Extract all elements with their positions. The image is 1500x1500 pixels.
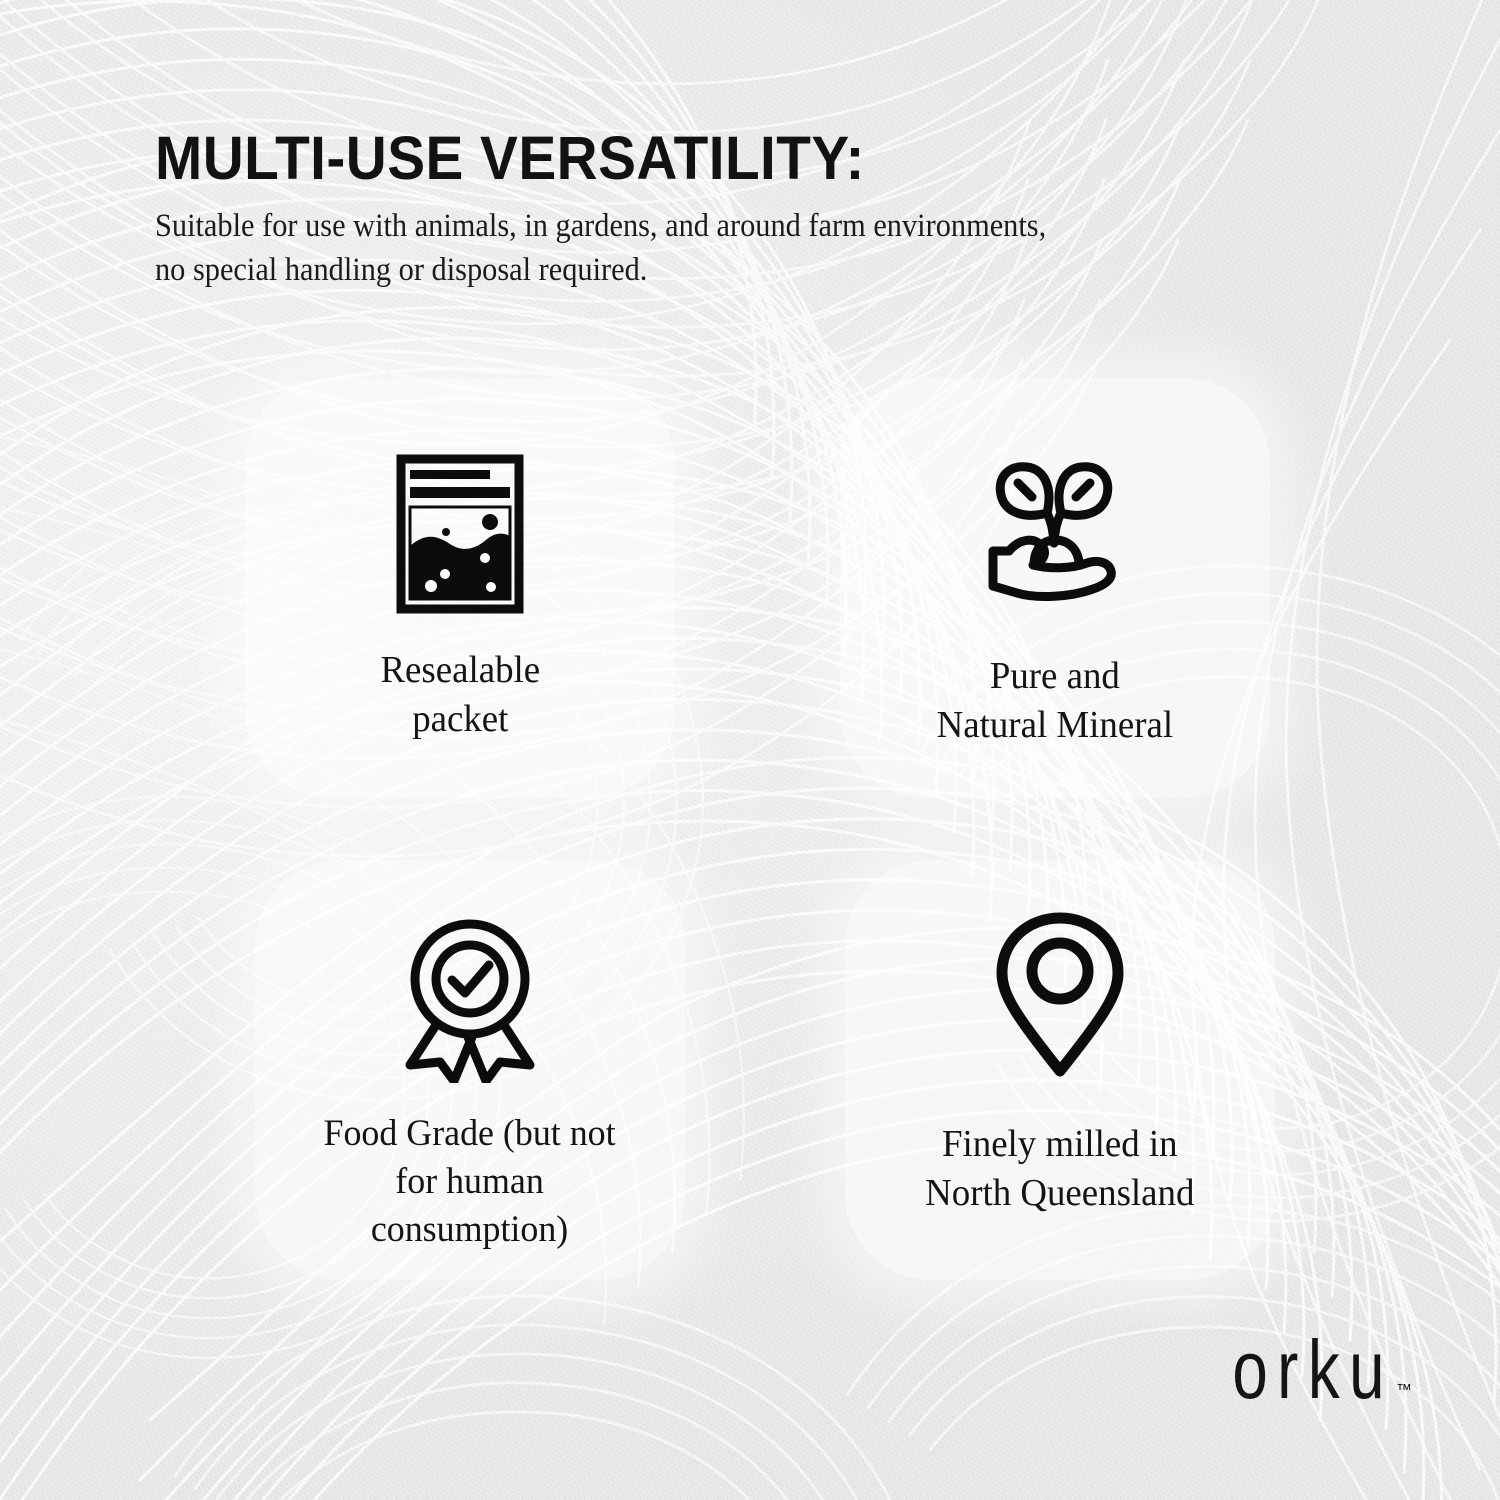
feature-card-resealable-packet: Resealable packet xyxy=(245,378,675,798)
brand-logo: orku ™ xyxy=(1206,1341,1412,1408)
feature-card-finely-milled: Finely milled in North Queensland xyxy=(845,860,1275,1280)
page-subtitle: Suitable for use with animals, in garden… xyxy=(155,205,1277,293)
infographic-canvas: MULTI-USE VERSATILITY: Suitable for use … xyxy=(0,0,1500,1500)
brand-wordmark: orku xyxy=(1232,1333,1394,1408)
feature-label: Pure and Natural Mineral xyxy=(937,652,1173,751)
feature-card-food-grade: Food Grade (but not for human consumptio… xyxy=(255,860,685,1280)
hand-holding-seedling-icon xyxy=(975,430,1135,630)
feature-label: Food Grade (but not for human consumptio… xyxy=(324,1110,616,1254)
feature-label: Finely milled in North Queensland xyxy=(925,1120,1194,1219)
feature-card-pure-natural-mineral: Pure and Natural Mineral xyxy=(840,378,1270,798)
map-pin-icon xyxy=(993,894,1127,1094)
page-title: MULTI-USE VERSATILITY: xyxy=(155,128,1290,189)
header-block: MULTI-USE VERSATILITY: Suitable for use … xyxy=(155,128,1375,293)
feature-grid: Resealable packet xyxy=(245,378,1270,1288)
trademark-symbol: ™ xyxy=(1396,1382,1412,1400)
resealable-bag-icon xyxy=(396,434,524,634)
award-rosette-check-icon xyxy=(392,900,548,1100)
feature-label: Resealable packet xyxy=(380,646,540,745)
